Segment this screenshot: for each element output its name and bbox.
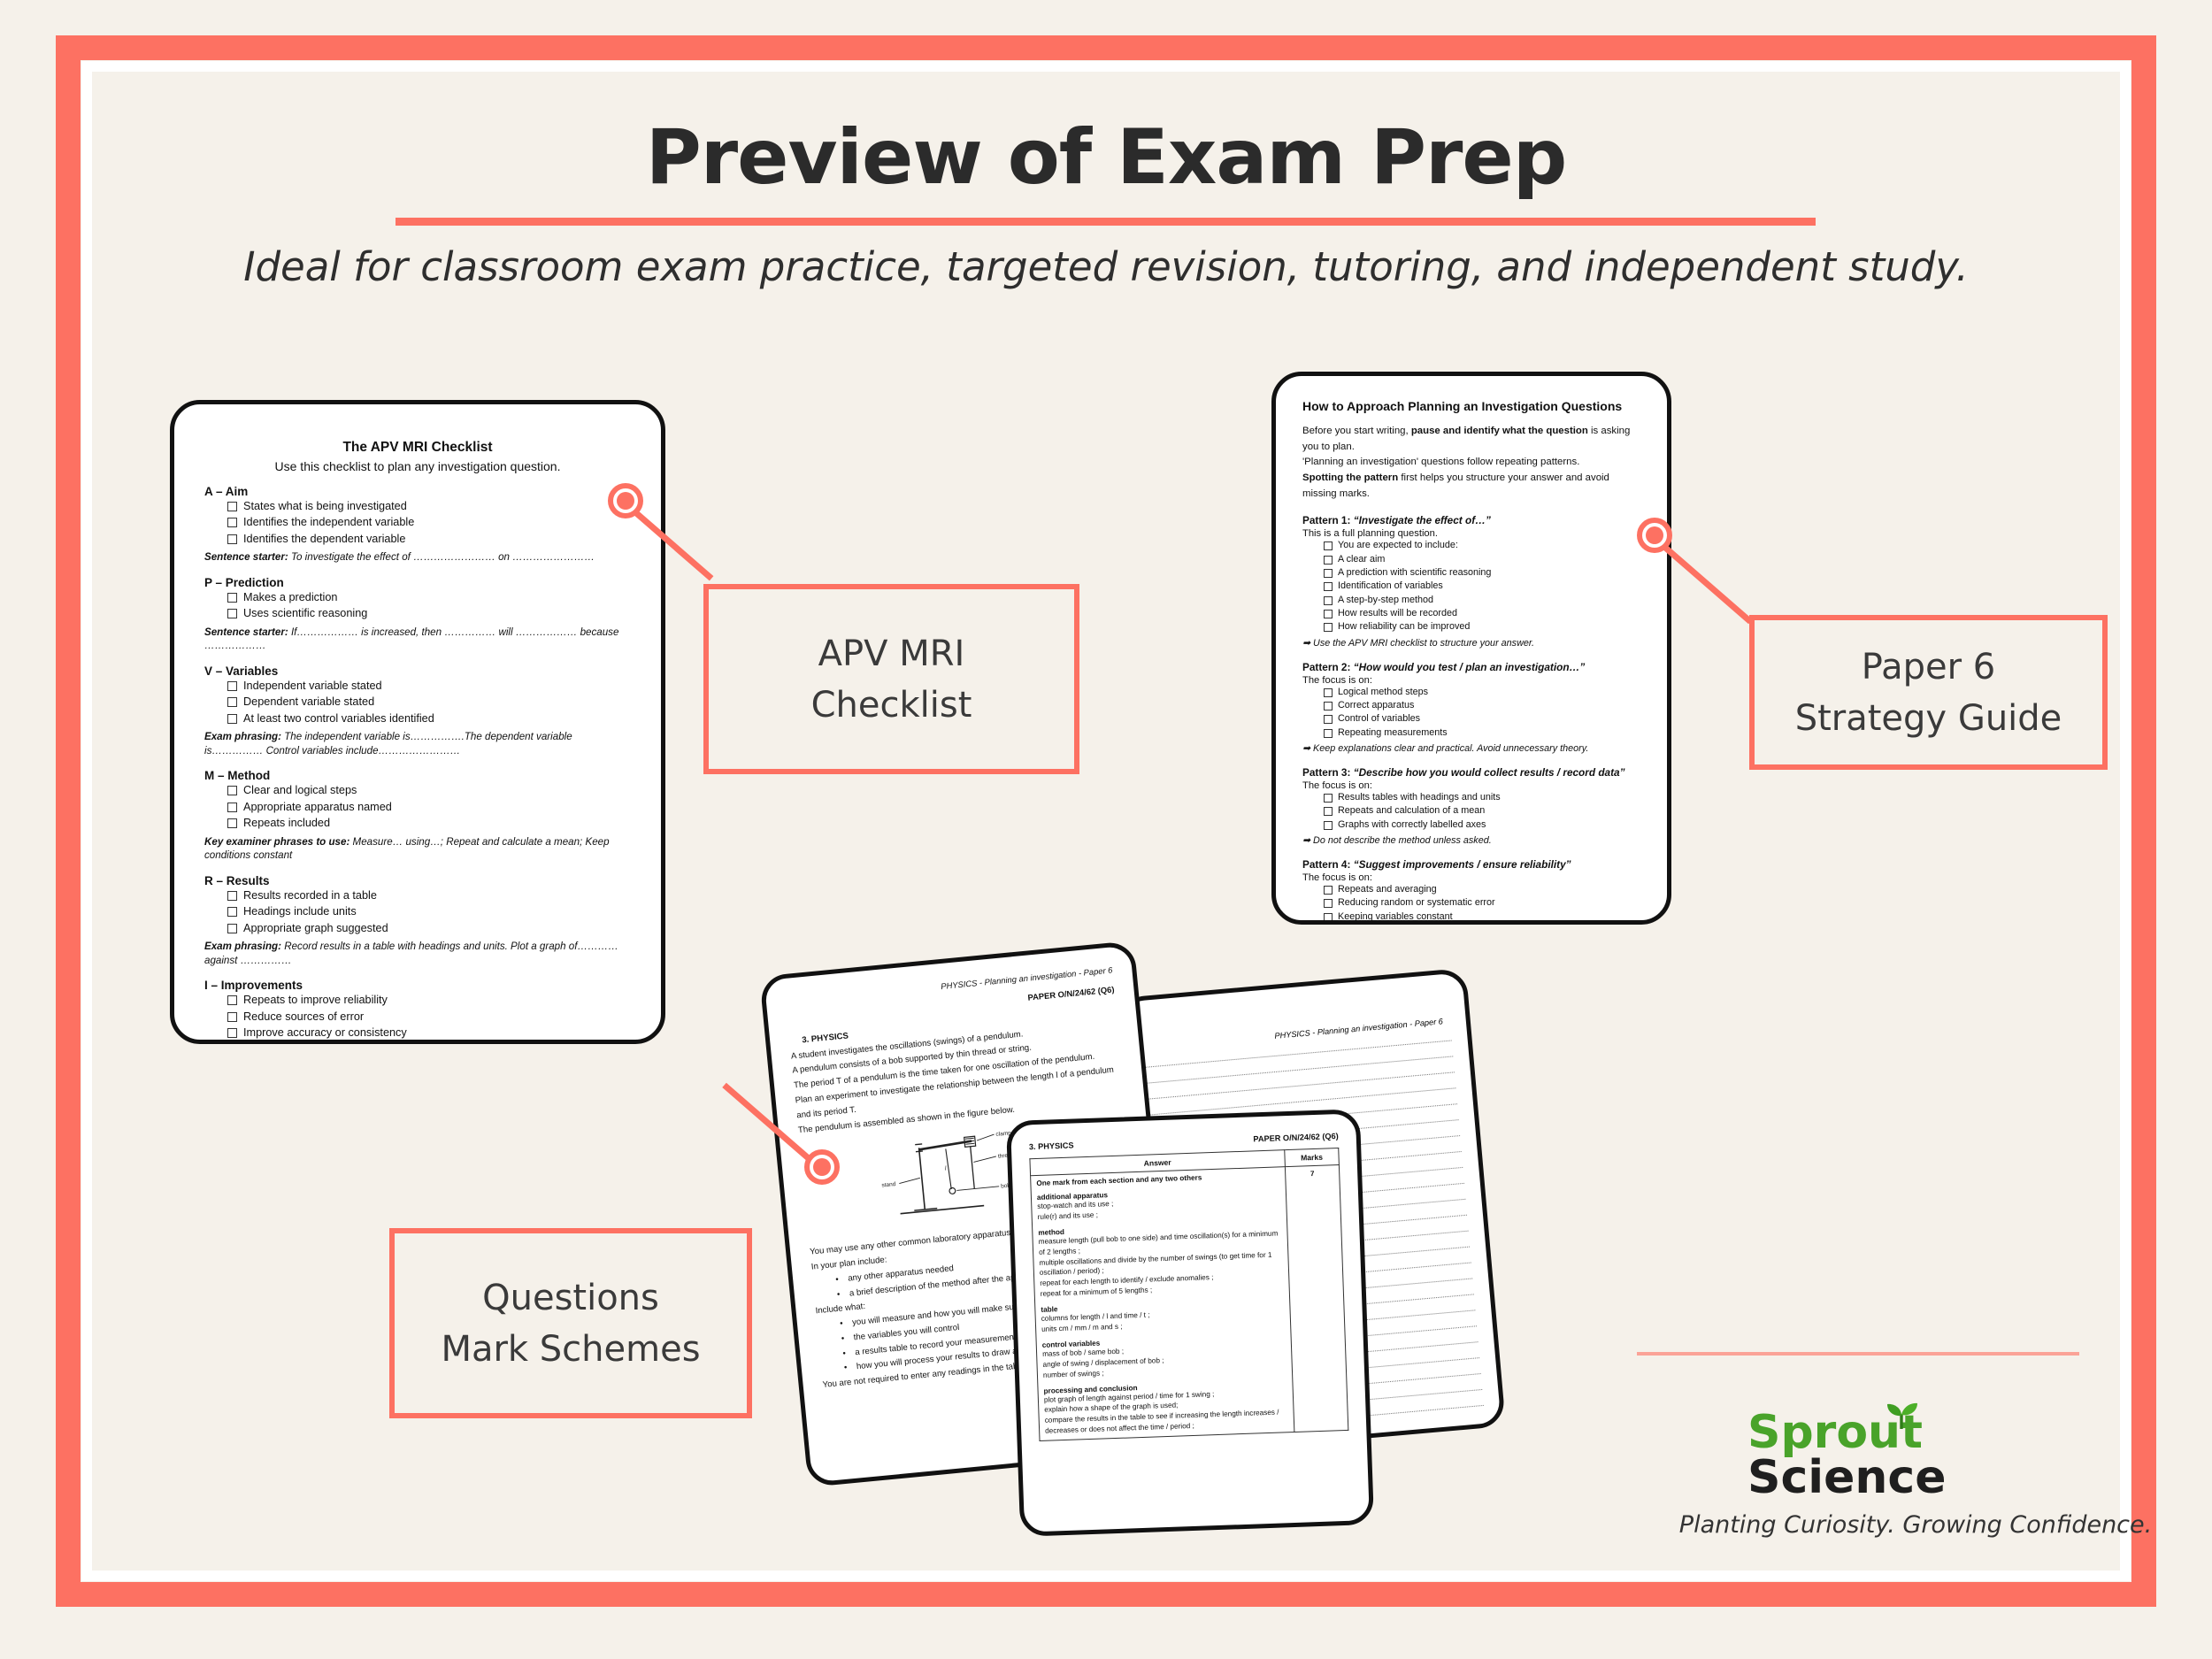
checklist-section-heading: V – Variables: [204, 664, 631, 678]
checkbox-icon[interactable]: [1324, 821, 1333, 830]
mark-scheme-sections: additional apparatusstop-watch and its u…: [1037, 1185, 1288, 1437]
strategy-checklist-item[interactable]: Keeping variables constant: [1324, 910, 1640, 924]
strategy-content: How to Approach Planning an Investigatio…: [1276, 376, 1667, 925]
checklist-item-label: States what is being investigated: [243, 498, 407, 514]
strategy-patterns: Pattern 1: “Investigate the effect of…”T…: [1302, 514, 1640, 925]
checklist-section-heading: M – Method: [204, 769, 631, 782]
strategy-checklist-item[interactable]: How reliability can be improved: [1324, 620, 1640, 634]
brand-tagline: Planting Curiosity. Growing Confidence.: [1668, 1511, 2163, 1539]
checkbox-icon[interactable]: [1324, 610, 1333, 618]
strategy-checklist-item[interactable]: Repeating measurements: [1324, 726, 1640, 740]
checkbox-icon[interactable]: [1324, 715, 1333, 724]
checkbox-icon[interactable]: [227, 924, 237, 933]
paper-stack: PHYSICS - Planning an investigation - Pa…: [761, 938, 1433, 1557]
checklist-item-label: Identifies the independent variable: [243, 514, 414, 530]
callout-questions-line2: Mark Schemes: [441, 1324, 700, 1375]
checkbox-icon[interactable]: [227, 818, 237, 828]
checklist-item-label: Clear and logical steps: [243, 782, 357, 798]
callout-apv-mri-checklist: APV MRI Checklist: [703, 584, 1079, 774]
checklist-item[interactable]: States what is being investigated: [227, 498, 631, 514]
checklist-item-label: Repeats to improve reliability: [243, 992, 388, 1008]
strategy-checklist-item[interactable]: A clear aim: [1324, 553, 1640, 566]
strategy-intro-line: Before you start writing, pause and iden…: [1302, 424, 1640, 455]
strategy-item-label: Control of variables: [1338, 712, 1420, 726]
mark-scheme-lead: One mark from each section and any two o…: [1036, 1171, 1279, 1187]
checklist-item-label: Reduce sources of error: [243, 1009, 364, 1025]
checklist-item-label: Repeats included: [243, 815, 330, 831]
pin-marker-strategy: [1637, 518, 1672, 553]
mark-scheme-answer-cell: One mark from each section and any two o…: [1031, 1167, 1294, 1441]
pin-marker-questions: [804, 1149, 840, 1185]
checkbox-icon[interactable]: [227, 1012, 237, 1022]
checkbox-icon[interactable]: [227, 681, 237, 691]
checklist-item[interactable]: Appropriate graph suggested: [227, 920, 631, 936]
table-row: One mark from each section and any two o…: [1031, 1165, 1348, 1441]
checklist-item-label: Appropriate apparatus named: [243, 799, 392, 815]
mark-scheme-number: 3. PHYSICS: [1029, 1141, 1074, 1151]
checklist-item-label: Uses scientific reasoning: [243, 605, 367, 621]
strategy-item-label: Reducing random or systematic error: [1338, 896, 1495, 910]
checklist-section-heading: R – Results: [204, 874, 631, 887]
strategy-pattern-heading: Pattern 2: “How would you test / plan an…: [1302, 661, 1640, 673]
checklist-item[interactable]: Identifies the dependent variable: [227, 531, 631, 547]
checkbox-icon[interactable]: [227, 502, 237, 511]
mark-scheme-content: 3. PHYSICS PAPER O/N/24/62 (Q6) Answer M…: [1010, 1113, 1367, 1460]
checkbox-icon[interactable]: [1324, 541, 1333, 550]
checklist-item-label: Results recorded in a table: [243, 887, 377, 903]
strategy-intro-line: Spotting the pattern first helps you str…: [1302, 471, 1640, 502]
checkbox-icon[interactable]: [227, 891, 237, 901]
strategy-pattern-focus: The focus is on:: [1302, 780, 1640, 791]
checklist-item[interactable]: Reduce sources of error: [227, 1009, 631, 1025]
strategy-item-label: Identification of variables: [1338, 580, 1443, 593]
checkbox-icon[interactable]: [1324, 556, 1333, 565]
checklist-item[interactable]: Results recorded in a table: [227, 887, 631, 903]
callout-checklist-line2: Checklist: [811, 680, 972, 731]
checkbox-icon[interactable]: [1324, 913, 1333, 922]
checkbox-icon[interactable]: [1324, 596, 1333, 605]
checklist-section-heading: A – Aim: [204, 485, 631, 498]
checklist-item-label: Appropriate graph suggested: [243, 920, 388, 936]
callout-questions-mark-schemes: Questions Mark Schemes: [389, 1228, 752, 1418]
checkbox-icon[interactable]: [1324, 688, 1333, 697]
strategy-item-label: How results will be recorded: [1338, 607, 1457, 620]
strategy-pattern-heading: Pattern 1: “Investigate the effect of…”: [1302, 514, 1640, 526]
strategy-intro: Before you start writing, pause and iden…: [1302, 424, 1640, 502]
checklist-item-label: Dependent variable stated: [243, 694, 374, 710]
checklist-item[interactable]: Headings include units: [227, 903, 631, 919]
checklist-item-label: Identifies the dependent variable: [243, 531, 405, 547]
strategy-pattern-focus: The focus is on:: [1302, 675, 1640, 686]
checkbox-icon[interactable]: [227, 593, 237, 603]
checkbox-icon[interactable]: [227, 609, 237, 618]
arrow-right-icon: ➡: [1302, 638, 1313, 649]
brand-name-science: Science: [1747, 1455, 2084, 1501]
checkbox-icon[interactable]: [227, 697, 237, 707]
checklist-item-label: At least two control variables identifie…: [243, 710, 434, 726]
strategy-pattern-heading: Pattern 3: “Describe how you would colle…: [1302, 766, 1640, 779]
strategy-title: How to Approach Planning an Investigatio…: [1302, 399, 1640, 413]
checkbox-icon[interactable]: [1324, 729, 1333, 738]
checklist-note: Sentence starter: If……………… is increased,…: [204, 626, 631, 653]
strategy-item-label: Correct apparatus: [1338, 699, 1414, 712]
checkbox-icon[interactable]: [227, 803, 237, 812]
strategy-checklist-item[interactable]: Logical method steps: [1324, 686, 1640, 699]
strategy-checklist-item[interactable]: Repeats and calculation of a mean: [1324, 804, 1640, 818]
strategy-pattern-focus: This is a full planning question.: [1302, 528, 1640, 539]
strategy-item-label: Logical method steps: [1338, 686, 1428, 699]
title-divider: [396, 218, 1816, 226]
strategy-checklist-item[interactable]: You are expected to include:: [1324, 539, 1640, 552]
sprout-leaf-icon: [1882, 1394, 1921, 1437]
svg-text:l: l: [944, 1166, 947, 1172]
callout-strategy-line1: Paper 6: [1862, 641, 1995, 693]
checklist-note: Exam phrasing: Record results in a table…: [204, 940, 631, 967]
checklist-item[interactable]: Dependent variable stated: [227, 694, 631, 710]
strategy-pattern-focus: The focus is on:: [1302, 872, 1640, 883]
callout-checklist-line1: APV MRI: [818, 628, 965, 680]
svg-text:stand: stand: [881, 1181, 896, 1189]
checklist-item[interactable]: Repeats included: [227, 815, 631, 831]
checkbox-icon[interactable]: [227, 1028, 237, 1038]
strategy-item-label: Results tables with headings and units: [1338, 791, 1501, 804]
pin-marker-checklist: [608, 483, 643, 518]
callout-paper6-strategy-guide: Paper 6 Strategy Guide: [1749, 615, 2108, 770]
callout-strategy-line2: Strategy Guide: [1795, 693, 2062, 744]
strategy-item-label: Repeats and calculation of a mean: [1338, 804, 1485, 818]
strategy-item-label: How reliability can be improved: [1338, 620, 1470, 634]
checklist-item[interactable]: Identifies the independent variable: [227, 514, 631, 530]
checklist-title: The APV MRI Checklist: [204, 440, 631, 456]
page-subtitle: Ideal for classroom exam practice, targe…: [0, 243, 2212, 290]
checklist-item[interactable]: At least two control variables identifie…: [227, 710, 631, 726]
strategy-pattern-tip: ➡ Use the APV MRI checklist to structure…: [1302, 637, 1640, 649]
strategy-item-label: Repeating measurements: [1338, 726, 1448, 740]
strategy-item-label: A clear aim: [1338, 553, 1385, 566]
checklist-item-label: Improve accuracy or consistency: [243, 1025, 407, 1041]
strategy-item-label: A prediction with scientific reasoning: [1338, 566, 1491, 580]
strategy-checklist-item[interactable]: A prediction with scientific reasoning: [1324, 566, 1640, 580]
checklist-item[interactable]: Makes a prediction: [227, 589, 631, 605]
checklist-item[interactable]: Clear and logical steps: [227, 782, 631, 798]
checklist-item[interactable]: Improve accuracy or consistency: [227, 1025, 631, 1041]
strategy-item-label: Repeats and averaging: [1338, 883, 1437, 896]
strategy-checklist-item[interactable]: Results tables with headings and units: [1324, 791, 1640, 804]
checkbox-icon[interactable]: [1324, 899, 1333, 908]
strategy-checklist-item[interactable]: Control of variables: [1324, 712, 1640, 726]
checkbox-icon[interactable]: [227, 714, 237, 724]
checklist-note: Exam phrasing: The independent variable …: [204, 730, 631, 757]
mark-scheme-paper-code: PAPER O/N/24/62 (Q6): [1253, 1132, 1339, 1143]
checklist-item-label: Independent variable stated: [243, 678, 382, 694]
checkbox-icon[interactable]: [1324, 886, 1333, 895]
strategy-checklist-item[interactable]: How results will be recorded: [1324, 607, 1640, 620]
checkbox-icon[interactable]: [1324, 623, 1333, 632]
strategy-item-label: You are expected to include:: [1338, 539, 1458, 552]
checklist-item[interactable]: Repeats to improve reliability: [227, 992, 631, 1008]
checkbox-icon[interactable]: [227, 534, 237, 544]
strategy-checklist-item[interactable]: Identification of variables: [1324, 580, 1640, 593]
checklist-section-heading: I – Improvements: [204, 979, 631, 992]
checklist-item[interactable]: Uses scientific reasoning: [227, 605, 631, 621]
checklist-item-label: Makes a prediction: [243, 589, 338, 605]
strategy-item-label: Keeping variables constant: [1338, 910, 1453, 924]
checkbox-icon[interactable]: [227, 907, 237, 917]
strategy-checklist-item[interactable]: Reducing random or systematic error: [1324, 896, 1640, 910]
mark-scheme-marks-cell: 7: [1285, 1165, 1348, 1432]
checkbox-icon[interactable]: [1324, 794, 1333, 803]
checklist-item-label: Headings include units: [243, 903, 357, 919]
strategy-pattern-tip: ➡ Do not describe the method unless aske…: [1302, 834, 1640, 846]
strategy-intro-line: 'Planning an investigation' questions fo…: [1302, 455, 1640, 471]
strategy-checklist-item[interactable]: Correct apparatus: [1324, 699, 1640, 712]
checkbox-icon[interactable]: [227, 995, 237, 1005]
strategy-checklist-item[interactable]: Graphs with correctly labelled axes: [1324, 818, 1640, 832]
page-title: Preview of Exam Prep: [0, 113, 2212, 202]
strategy-pattern-tip: ➡ Keep explanations clear and practical.…: [1302, 742, 1640, 754]
poster-canvas: Preview of Exam Prep Ideal for classroom…: [0, 0, 2212, 1659]
arrow-right-icon: ➡: [1302, 835, 1313, 846]
checklist-subtitle: Use this checklist to plan any investiga…: [204, 459, 631, 473]
strategy-item-label: A step-by-step method: [1338, 594, 1433, 607]
checklist-sections: A – AimStates what is being investigated…: [204, 485, 631, 1044]
checkbox-icon[interactable]: [227, 518, 237, 527]
checklist-note: Sentence starter: To investigate the eff…: [204, 550, 631, 565]
checklist-item[interactable]: Independent variable stated: [227, 678, 631, 694]
mark-scheme-table: Answer Marks One mark from each section …: [1029, 1148, 1348, 1441]
brand-divider: [1637, 1352, 2079, 1356]
checkbox-icon[interactable]: [1324, 807, 1333, 816]
strategy-item-label: Graphs with correctly labelled axes: [1338, 818, 1486, 832]
brand-logo: Sprout Science: [1747, 1411, 2084, 1501]
document-card-strategy-guide[interactable]: How to Approach Planning an Investigatio…: [1271, 372, 1671, 925]
checklist-content: The APV MRI Checklist Use this checklist…: [174, 404, 661, 1044]
checkbox-icon[interactable]: [1324, 569, 1333, 578]
document-card-mark-scheme[interactable]: 3. PHYSICS PAPER O/N/24/62 (Q6) Answer M…: [1006, 1109, 1374, 1537]
brand-name-sprout: Sprout: [1747, 1411, 2084, 1455]
callout-questions-line1: Questions: [482, 1272, 659, 1324]
strategy-checklist-item[interactable]: A step-by-step method: [1324, 594, 1640, 607]
strategy-pattern-heading: Pattern 4: “Suggest improvements / ensur…: [1302, 858, 1640, 871]
document-card-checklist[interactable]: The APV MRI Checklist Use this checklist…: [170, 400, 665, 1044]
col-marks: Marks: [1285, 1148, 1340, 1167]
checklist-section-heading: P – Prediction: [204, 576, 631, 589]
checkbox-icon[interactable]: [227, 786, 237, 795]
arrow-right-icon: ➡: [1302, 743, 1313, 754]
strategy-checklist-item[interactable]: Repeats and averaging: [1324, 883, 1640, 896]
checklist-note: Key examiner phrases to use: Measure… us…: [204, 835, 631, 863]
checklist-item[interactable]: Appropriate apparatus named: [227, 799, 631, 815]
checkbox-icon[interactable]: [1324, 582, 1333, 591]
checkbox-icon[interactable]: [1324, 702, 1333, 710]
